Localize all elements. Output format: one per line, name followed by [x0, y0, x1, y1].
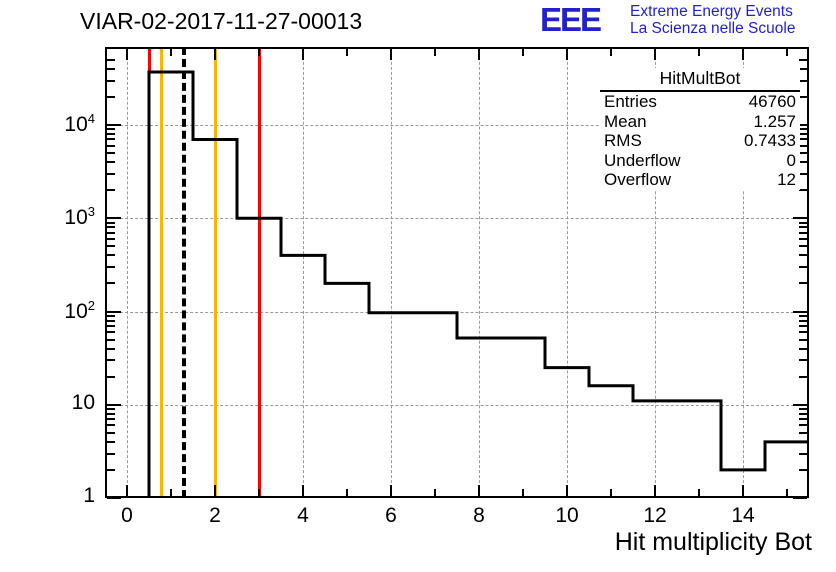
tick-mark	[799, 238, 807, 240]
y-axis-tick-label: 1	[0, 484, 95, 508]
tick-mark	[698, 49, 700, 56]
tick-mark	[799, 282, 807, 284]
tick-mark	[799, 408, 807, 410]
tick-mark	[107, 348, 115, 350]
tick-mark	[346, 49, 348, 56]
tick-mark	[799, 254, 807, 256]
tick-mark	[107, 418, 115, 420]
tick-mark	[107, 232, 115, 234]
tick-mark	[107, 138, 115, 140]
tick-mark	[390, 485, 392, 496]
tick-mark	[742, 49, 744, 60]
tick-mark	[799, 413, 807, 415]
tick-mark	[799, 59, 807, 61]
tick-mark	[799, 359, 807, 361]
tick-mark	[170, 489, 172, 496]
x-axis-tick-label: 4	[273, 504, 333, 528]
stats-row-value: 1.257	[753, 112, 796, 132]
root-canvas: VIAR-02-2017-11-27-00013 EEE Extreme Ene…	[0, 0, 836, 572]
tick-mark	[107, 96, 115, 98]
tick-mark	[107, 128, 115, 130]
tick-mark	[107, 311, 121, 313]
tick-mark	[107, 133, 115, 135]
y-axis-tick-label: 104	[0, 111, 95, 137]
x-axis-tick-label: 6	[361, 504, 421, 528]
tick-mark	[478, 49, 480, 60]
tick-mark	[107, 217, 121, 219]
tick-mark	[107, 266, 115, 268]
tick-mark	[799, 145, 807, 147]
tick-mark	[107, 189, 115, 191]
stats-row-label: RMS	[604, 131, 642, 151]
tick-mark	[107, 359, 115, 361]
tick-mark	[566, 49, 568, 60]
tick-mark	[126, 49, 128, 60]
tick-mark	[107, 161, 115, 163]
tick-mark	[107, 413, 115, 415]
tick-mark	[107, 320, 115, 322]
stats-row-value: 0	[787, 151, 796, 171]
tick-mark	[107, 245, 115, 247]
tick-mark	[799, 161, 807, 163]
eee-logo-mark: EEE	[540, 3, 600, 36]
eee-logo-line2: La Scienza nelle Scuole	[630, 21, 795, 37]
tick-mark	[799, 418, 807, 420]
tick-mark	[742, 485, 744, 496]
tick-mark	[434, 489, 436, 496]
tick-mark	[799, 152, 807, 154]
x-axis-tick-label: 12	[625, 504, 685, 528]
tick-mark	[799, 189, 807, 191]
tick-mark	[786, 49, 788, 56]
tick-mark	[107, 424, 115, 426]
tick-mark	[478, 485, 480, 496]
tick-mark	[799, 432, 807, 434]
tick-mark	[799, 173, 807, 175]
tick-mark	[107, 469, 115, 471]
stats-row-label: Overflow	[604, 170, 671, 190]
tick-mark	[793, 404, 807, 406]
tick-mark	[107, 145, 115, 147]
tick-mark	[793, 311, 807, 313]
tick-mark	[799, 245, 807, 247]
x-axis-tick-label: 0	[97, 504, 157, 528]
tick-mark	[107, 124, 121, 126]
tick-mark	[799, 441, 807, 443]
tick-mark	[799, 424, 807, 426]
tick-mark	[126, 485, 128, 496]
stats-row-label: Entries	[604, 92, 657, 112]
stats-row-value: 12	[777, 170, 796, 190]
stats-row-label: Underflow	[604, 151, 681, 171]
tick-mark	[302, 49, 304, 60]
tick-mark	[610, 489, 612, 496]
tick-mark	[799, 453, 807, 455]
tick-mark	[799, 232, 807, 234]
x-axis-title: Hit multiplicity Bot	[615, 528, 812, 557]
tick-mark	[107, 453, 115, 455]
tick-mark	[799, 68, 807, 70]
tick-mark	[107, 404, 121, 406]
tick-mark	[107, 497, 121, 499]
tick-mark	[654, 49, 656, 60]
tick-mark	[799, 226, 807, 228]
tick-mark	[107, 68, 115, 70]
tick-mark	[258, 49, 260, 56]
tick-mark	[786, 489, 788, 496]
stats-row: Mean1.257	[600, 112, 800, 132]
y-axis-tick-label: 102	[0, 298, 95, 324]
x-axis-tick-label: 14	[713, 504, 773, 528]
tick-mark	[107, 315, 115, 317]
tick-mark	[793, 497, 807, 499]
tick-mark	[170, 49, 172, 56]
y-axis-tick-label: 103	[0, 204, 95, 230]
tick-mark	[799, 266, 807, 268]
x-axis-tick-label: 8	[449, 504, 509, 528]
tick-mark	[793, 217, 807, 219]
tick-mark	[107, 376, 115, 378]
tick-mark	[214, 49, 216, 60]
stats-row-value: 0.7433	[744, 131, 796, 151]
tick-mark	[107, 432, 115, 434]
tick-mark	[107, 339, 115, 341]
tick-mark	[610, 49, 612, 56]
tick-mark	[799, 315, 807, 317]
tick-mark	[522, 489, 524, 496]
x-axis-tick-label: 2	[185, 504, 245, 528]
tick-mark	[799, 325, 807, 327]
tick-mark	[799, 331, 807, 333]
tick-mark	[799, 339, 807, 341]
tick-mark	[799, 138, 807, 140]
stats-row: Entries46760	[600, 92, 800, 112]
tick-mark	[390, 49, 392, 60]
stats-title: HitMultBot	[600, 68, 800, 92]
tick-mark	[107, 441, 115, 443]
tick-mark	[799, 348, 807, 350]
y-axis-tick-label: 10	[0, 391, 95, 415]
tick-mark	[107, 282, 115, 284]
tick-mark	[107, 152, 115, 154]
tick-mark	[107, 59, 115, 61]
stats-row: RMS0.7433	[600, 131, 800, 151]
tick-mark	[107, 222, 115, 224]
tick-mark	[107, 325, 115, 327]
tick-mark	[698, 489, 700, 496]
tick-mark	[107, 254, 115, 256]
stats-row: Underflow0	[600, 151, 800, 171]
stats-box: HitMultBot Entries46760Mean1.257RMS0.743…	[600, 68, 800, 190]
page-title: VIAR-02-2017-11-27-00013	[80, 8, 362, 35]
stats-row-value: 46760	[749, 92, 796, 112]
tick-mark	[346, 489, 348, 496]
tick-mark	[799, 128, 807, 130]
tick-mark	[799, 133, 807, 135]
eee-logo: EEE Extreme Energy Events La Scienza nel…	[540, 2, 832, 42]
tick-mark	[302, 485, 304, 496]
stats-row-label: Mean	[604, 112, 647, 132]
tick-mark	[434, 49, 436, 56]
tick-mark	[566, 485, 568, 496]
tick-mark	[522, 49, 524, 56]
tick-mark	[799, 222, 807, 224]
tick-mark	[799, 80, 807, 82]
tick-mark	[107, 408, 115, 410]
tick-mark	[799, 469, 807, 471]
tick-mark	[654, 485, 656, 496]
tick-mark	[799, 96, 807, 98]
tick-mark	[107, 80, 115, 82]
tick-mark	[799, 320, 807, 322]
stats-row: Overflow12	[600, 170, 800, 190]
tick-mark	[258, 489, 260, 496]
tick-mark	[107, 238, 115, 240]
eee-logo-line1: Extreme Energy Events	[630, 4, 793, 20]
tick-mark	[107, 226, 115, 228]
x-axis-tick-label: 10	[537, 504, 597, 528]
tick-mark	[799, 376, 807, 378]
tick-mark	[214, 485, 216, 496]
tick-mark	[107, 173, 115, 175]
tick-mark	[107, 331, 115, 333]
